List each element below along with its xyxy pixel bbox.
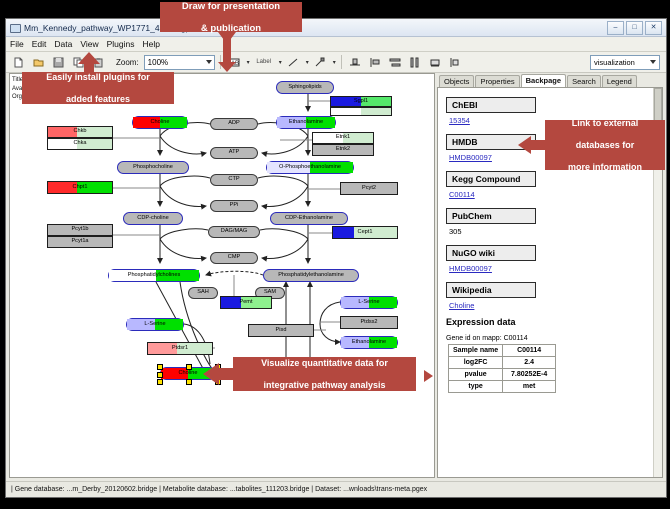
metabolite-node-atp[interactable]: ATP xyxy=(210,147,258,159)
node-label: Pcyt1a xyxy=(71,239,88,245)
save-icon[interactable] xyxy=(50,54,67,71)
gene-node-ptdsr1[interactable]: Ptdsr1 xyxy=(147,342,213,355)
kegg-header: Kegg Compound xyxy=(446,171,536,187)
metabolite-node-choline[interactable]: Choline xyxy=(132,116,188,129)
align-top-icon[interactable] xyxy=(347,54,364,71)
line-dropdown-icon[interactable]: ▾ xyxy=(306,59,309,66)
gene-node-sgpl1[interactable]: Sgpl1 xyxy=(330,96,392,107)
node-label: Pcyt2 xyxy=(362,186,376,192)
callout-links-line3: more information xyxy=(562,162,648,173)
row-value: met xyxy=(503,381,556,393)
visualization-value: visualization xyxy=(594,58,635,67)
toolbar: Zoom: 100% AB ▾ Label ▾ ▾ ▾ xyxy=(6,52,666,73)
callout-visualize-text: Visualize quantitative data for integrat… xyxy=(249,358,400,391)
pathway-diagram[interactable]: CholineSphingolipidsEthanolaminePhosphoc… xyxy=(10,74,434,478)
selection-handle-6[interactable] xyxy=(186,379,192,385)
gene-node-etnk2[interactable]: Etnk2 xyxy=(312,144,374,156)
toolbar-separator-2 xyxy=(341,55,342,69)
callout-plugins-line1: Easily install plugins for xyxy=(40,72,156,83)
metabolite-node-l-serine-right[interactable]: L-Serine xyxy=(340,296,398,309)
node-label: Ptdss2 xyxy=(360,320,377,326)
row-label: Sample name xyxy=(449,345,503,357)
callout-visualize-line1: Visualize quantitative data for xyxy=(255,358,394,369)
visualization-combobox[interactable]: visualization xyxy=(590,55,660,70)
node-label: Ethanolamine xyxy=(289,120,323,126)
maximize-button[interactable]: □ xyxy=(626,21,643,35)
node-label: Phosphatidylcholines xyxy=(128,273,181,279)
chevron-down-icon xyxy=(206,60,212,64)
callout-links-arrowhead xyxy=(518,136,531,154)
callout-draw-arrow xyxy=(218,32,236,44)
node-label: O-Phosphoethanolamine xyxy=(279,165,341,171)
node-fill-left xyxy=(333,227,354,238)
row-label: pvalue xyxy=(449,369,503,381)
node-label: Choline xyxy=(151,120,170,126)
metabolite-node-cdp-choline[interactable]: CDP-choline xyxy=(123,212,183,225)
node-label: CTP xyxy=(228,177,239,183)
callout-visualize-arrowhead xyxy=(203,363,219,385)
new-file-icon[interactable] xyxy=(10,54,27,71)
row-label: type xyxy=(449,381,503,393)
gene-node-cept1[interactable]: Cept1 xyxy=(332,226,398,239)
node-label: Cept1 xyxy=(358,230,373,236)
callout-links: Link to external databases for more info… xyxy=(545,120,665,170)
callout-links-line2: databases for xyxy=(562,140,648,151)
node-label: Pemt xyxy=(239,300,252,306)
open-folder-icon[interactable] xyxy=(30,54,47,71)
menu-item-data[interactable]: Data xyxy=(54,39,72,49)
window-controls: – □ ✕ xyxy=(607,21,663,35)
expression-data-title: Expression data xyxy=(446,317,654,327)
menu-item-file[interactable]: File xyxy=(10,39,24,49)
label-text: Label xyxy=(256,59,271,65)
metabolite-node-ppi[interactable]: PPi xyxy=(210,200,258,212)
node-label: ATP xyxy=(229,150,239,156)
node-label: Sphingolipids xyxy=(288,85,321,91)
metabolite-node-o-phosphoethanolamine[interactable]: O-Phosphoethanolamine xyxy=(266,161,354,174)
tab-legend[interactable]: Legend xyxy=(602,75,637,87)
stack-icon[interactable] xyxy=(407,54,424,71)
app-icon xyxy=(9,22,20,33)
table-row: log2FC 2.4 xyxy=(449,357,556,369)
table-row: type met xyxy=(449,381,556,393)
callout-draw-arrowhead xyxy=(218,62,236,72)
label-dropdown-icon[interactable]: ▾ xyxy=(279,59,282,66)
node-label: Chka xyxy=(73,141,86,147)
callout-plugins-text: Easily install plugins for added feature… xyxy=(34,72,162,105)
node-fill-left xyxy=(48,127,77,137)
metabolite-node-phosphocholine[interactable]: Phosphocholine xyxy=(117,161,189,174)
node-label: DAG/MAG xyxy=(221,229,247,235)
node-label: ADP xyxy=(228,121,240,127)
distribute-icon[interactable] xyxy=(387,54,404,71)
metabolite-node-dagmag[interactable]: DAG/MAG xyxy=(208,226,260,238)
menu-item-edit[interactable]: Edit xyxy=(32,39,47,49)
node-label: Phosphocholine xyxy=(133,165,173,171)
callout-visualize: Visualize quantitative data for integrat… xyxy=(233,357,416,391)
align-left-icon[interactable] xyxy=(367,54,384,71)
node-label: L-Serine xyxy=(358,300,379,306)
row-value: C00114 xyxy=(503,345,556,357)
gene-node-pcyt1b[interactable]: Pcyt1b xyxy=(47,224,113,236)
gene-node-chka[interactable]: Chka xyxy=(47,138,113,150)
expression-table: Sample name C00114 log2FC 2.4 pvalue 7.8… xyxy=(448,344,556,393)
table-row: pvalue 7.80252E-4 xyxy=(449,369,556,381)
metabolite-node-cmp[interactable]: CMP xyxy=(210,252,258,264)
status-bar-text: | Gene database: ...m_Derby_20120602.bri… xyxy=(6,486,427,493)
nugowiki-header: NuGO wiki xyxy=(446,245,536,261)
gene-node-pemt[interactable]: Pemt xyxy=(220,296,272,309)
arrow-dropdown-icon[interactable]: ▾ xyxy=(333,59,336,66)
pubchem-header: PubChem xyxy=(446,208,536,224)
line-icon[interactable] xyxy=(285,54,302,71)
callout-plugins-arrowhead xyxy=(78,52,100,64)
callout-draw-text: Draw for presentation & publication xyxy=(170,1,292,34)
node-label: SAH xyxy=(197,290,209,296)
node-label: Pcyt1b xyxy=(71,227,88,233)
wikipedia-header: Wikipedia xyxy=(446,282,536,298)
node-label: Etnk1 xyxy=(336,135,350,141)
tab-properties[interactable]: Properties xyxy=(475,75,519,87)
node-fill-right xyxy=(361,108,391,115)
arrow-shape-icon[interactable] xyxy=(312,54,329,71)
selection-handle-0[interactable] xyxy=(157,364,163,370)
gene-node-sgpl1b[interactable] xyxy=(330,107,392,116)
gene-node-chkb[interactable]: Chkb xyxy=(47,126,113,138)
group-icon[interactable] xyxy=(427,54,444,71)
metabolite-node-cdp-ethanolamine[interactable]: CDP-Ethanolamine xyxy=(270,212,348,225)
wikipedia-link[interactable]: Choline xyxy=(449,301,654,310)
menu-item-plugins[interactable]: Plugins xyxy=(107,39,135,49)
node-label: Phosphatidylethanolamine xyxy=(278,273,344,279)
label-icon[interactable]: Label xyxy=(253,54,275,71)
datanode-dropdown-icon[interactable]: ▾ xyxy=(247,59,250,66)
node-label: Choline xyxy=(179,371,198,377)
gene-node-etnk1[interactable]: Etnk1 xyxy=(312,132,374,144)
pathway-canvas-pane[interactable]: Title: Availa Organi xyxy=(9,73,435,478)
node-label: CDP-choline xyxy=(137,216,168,222)
metabolite-node-phosphatidylethanolamine[interactable]: Phosphatidylethanolamine xyxy=(263,269,359,282)
callout-draw: Draw for presentation & publication xyxy=(160,2,302,32)
node-label: CMP xyxy=(228,255,240,261)
pubchem-value: 305 xyxy=(449,227,654,236)
zoom-value: 100% xyxy=(148,58,168,67)
node-label: L-Serine xyxy=(144,322,165,328)
node-fill-left xyxy=(331,108,361,115)
table-row: Sample name C00114 xyxy=(449,345,556,357)
node-fill-left xyxy=(221,297,241,308)
selection-handle-5[interactable] xyxy=(157,379,163,385)
node-label: Sgpl1 xyxy=(354,99,368,105)
row-value: 2.4 xyxy=(503,357,556,369)
node-label: CDP-Ethanolamine xyxy=(285,216,333,222)
kegg-link[interactable]: C00114 xyxy=(449,190,654,199)
callout-links-text: Link to external databases for more info… xyxy=(556,118,654,173)
node-label: Pisd xyxy=(276,328,287,334)
metabolite-node-sphingolipids[interactable]: Sphingolipids xyxy=(276,81,334,94)
zoom-label: Zoom: xyxy=(116,58,139,67)
node-label: SAM xyxy=(264,290,276,296)
callout-expression-pointer xyxy=(424,370,433,382)
row-label: log2FC xyxy=(449,357,503,369)
screenshot-root: Mm_Kennedy_pathway_WP1771_45176.gpml – □… xyxy=(0,0,670,509)
gene-node-ptsc2[interactable]: Ptdss2 xyxy=(340,316,398,329)
node-label: PPi xyxy=(230,203,239,209)
tab-backpage[interactable]: Backpage xyxy=(521,74,566,87)
minimize-button[interactable]: – xyxy=(607,21,624,35)
callout-draw-line1: Draw for presentation xyxy=(176,1,286,12)
selection-handle-1[interactable] xyxy=(186,364,192,370)
gene-node-pcyt1a[interactable]: Pcyt1a xyxy=(47,236,113,248)
close-button[interactable]: ✕ xyxy=(645,21,662,35)
metabolite-node-ctp[interactable]: CTP xyxy=(210,174,258,186)
zoom-combobox[interactable]: 100% xyxy=(144,55,215,70)
status-bar: | Gene database: ...m_Derby_20120602.bri… xyxy=(6,481,666,497)
tab-objects[interactable]: Objects xyxy=(439,75,474,87)
node-label: Etnk2 xyxy=(336,147,350,153)
tab-search[interactable]: Search xyxy=(567,75,601,87)
callout-visualize-line2: integrative pathway analysis xyxy=(255,380,394,391)
gene-id-line: Gene id on mapp: C00114 xyxy=(446,335,654,342)
gene-node-pisd[interactable]: Pisd xyxy=(248,324,314,337)
metabolite-node-l-serine-left[interactable]: L-Serine xyxy=(126,318,184,331)
window-titlebar: Mm_Kennedy_pathway_WP1771_45176.gpml – □… xyxy=(6,19,666,37)
node-label: Ptdsr1 xyxy=(172,346,188,352)
metabolite-node-ethanolamine-2[interactable]: Ethanolamine xyxy=(340,336,398,349)
row-value: 7.80252E-4 xyxy=(503,369,556,381)
callout-links-line1: Link to external xyxy=(562,118,648,129)
node-fill-left xyxy=(48,139,77,149)
selection-handle-3[interactable] xyxy=(157,372,163,378)
chebi-header: ChEBI xyxy=(446,97,536,113)
node-label: Chpt1 xyxy=(73,185,88,191)
menu-item-view[interactable]: View xyxy=(80,39,98,49)
metabolite-node-ethanolamine[interactable]: Ethanolamine xyxy=(276,116,336,129)
menu-bar: File Edit Data View Plugins Help xyxy=(6,37,666,52)
callout-plugins: Easily install plugins for added feature… xyxy=(22,72,174,104)
node-label: Chkb xyxy=(73,129,86,135)
callout-plugins-line2: added features xyxy=(40,94,156,105)
gene-node-chpt1[interactable]: Chpt1 xyxy=(47,181,113,194)
node-label: Ethanolamine xyxy=(352,340,386,346)
nugowiki-link[interactable]: HMDB00097 xyxy=(449,264,654,273)
metabolite-node-phosphatidylcholines[interactable]: Phosphatidylcholines xyxy=(108,269,200,282)
menu-item-help[interactable]: Help xyxy=(143,39,160,49)
metabolite-node-adp[interactable]: ADP xyxy=(210,118,258,130)
side-panel-tabs: Objects Properties Backpage Search Legen… xyxy=(437,73,663,87)
order-icon[interactable] xyxy=(447,54,464,71)
chevron-down-icon-2 xyxy=(650,60,656,64)
metabolite-node-sah[interactable]: SAH xyxy=(188,287,218,299)
gene-node-pcyt2[interactable]: Pcyt2 xyxy=(340,182,398,195)
callout-links-stem xyxy=(530,140,546,150)
